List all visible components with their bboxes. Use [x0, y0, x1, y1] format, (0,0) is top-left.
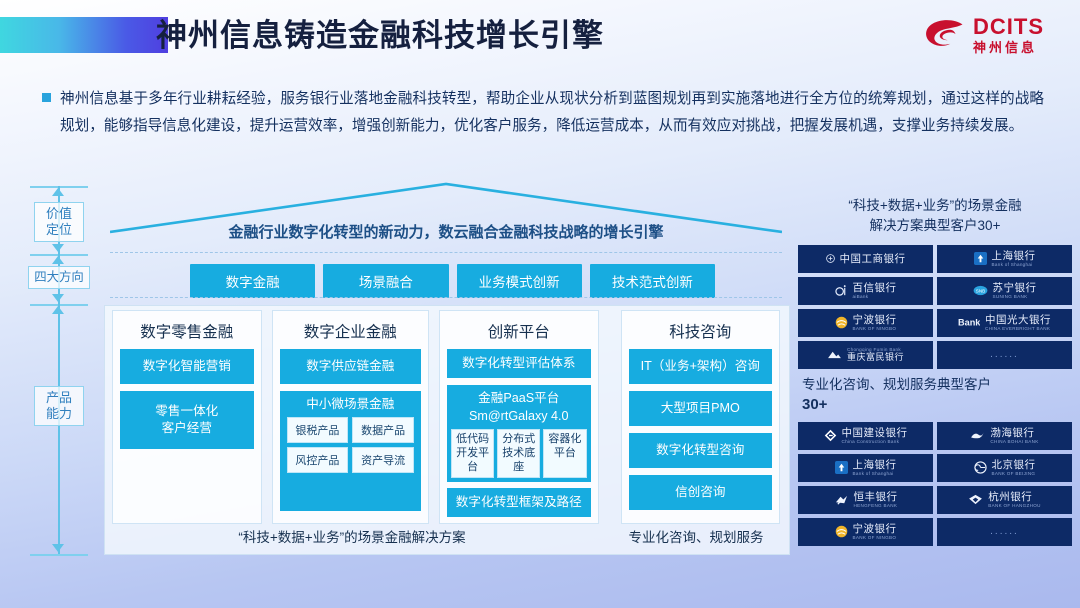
column-title: 创新平台: [447, 320, 590, 342]
bohai-bank-logo-icon: [970, 430, 985, 441]
ellipsis-icon: ......: [990, 349, 1019, 360]
axis-label-line2: 定位: [35, 222, 83, 238]
column-title: 数字企业金融: [280, 320, 422, 342]
paas-subitem-distributed-base[interactable]: 分布式技术底座: [497, 429, 540, 478]
axis-arrow-up-1: [52, 188, 64, 196]
bank-of-hangzhou-logo-icon: [968, 494, 983, 505]
customers-heading-line2: 解决方案典型客户30+: [800, 216, 1070, 236]
product-item-line2: 客户经营: [123, 420, 251, 437]
customer-name-cn: 宁波银行: [853, 523, 897, 535]
consulting-item-large-project-pmo[interactable]: 大型项目PMO: [629, 391, 772, 426]
axis-arrow-up-2: [52, 256, 64, 264]
direction-pill-tech-paradigm-innovation[interactable]: 技术范式创新: [590, 264, 715, 298]
customer-name-cn: 恒丰银行: [854, 491, 898, 503]
paas-subitem-container-platform[interactable]: 容器化平台: [543, 429, 586, 478]
customer-name-block: 北京银行 BANK OF BEIJING: [992, 459, 1036, 476]
column-title: 科技咨询: [629, 320, 772, 342]
axis-label-line1: 四大方向: [29, 270, 89, 285]
customer-name-cn: 北京银行: [992, 459, 1036, 471]
customer-name-cn: 中国光大银行: [985, 314, 1051, 326]
product-column-innovation-platform: 创新平台 数字化转型评估体系 金融PaaS平台 Sm@rtGalaxy 4.0 …: [439, 310, 598, 524]
icbc-logo-icon: [826, 254, 835, 263]
axis-label-product-capability: 产品 能力: [34, 386, 84, 426]
customer-name-en: HENGFENG BANK: [854, 503, 898, 508]
axis-arrow-down-3: [52, 544, 64, 552]
customer-name-en: BANK OF BEIJING: [992, 471, 1036, 476]
paas-title-line1: 金融PaaS平台: [451, 390, 586, 407]
customer-name-en: BANK OF HANGZHOU: [988, 503, 1041, 508]
customer-name-en: CHINA BOHAI BANK: [990, 439, 1038, 444]
left-axis: 价值 定位 四大方向 产品 能力: [30, 186, 102, 558]
product-item-digital-supply-chain-finance[interactable]: 数字供应链金融: [280, 349, 422, 384]
direction-pill-digital-finance[interactable]: 数字金融: [190, 264, 315, 298]
customer-name-block: 杭州银行 BANK OF HANGZHOU: [988, 491, 1041, 508]
consulting-item-xinchuang[interactable]: 信创咨询: [629, 475, 772, 510]
customer-name-cn: 百信银行: [853, 282, 897, 294]
axis-label-line1: 价值: [35, 206, 83, 222]
paas-subitem-lowcode[interactable]: 低代码开发平台: [451, 429, 494, 478]
dcits-swoosh-logo-icon: [924, 18, 966, 52]
roof-caption: 金融行业数字化转型的新动力，数云融合金融科技战略的增长引擎: [110, 221, 782, 242]
customer-cell-aibank[interactable]: 百信银行 aiBank: [798, 277, 933, 305]
axis-label-value-position: 价值 定位: [34, 202, 84, 242]
customer-name-cn: 渤海银行: [990, 427, 1034, 439]
customer-name-cn: 上海银行: [992, 250, 1036, 262]
customer-name-block: 恒丰银行 HENGFENG BANK: [854, 491, 898, 508]
customers-panel: “科技+数据+业务”的场景金融 解决方案典型客户30+ 中国工商银行 上海银行 …: [790, 190, 1080, 558]
aibank-logo-icon: [835, 285, 848, 297]
customer-cell-ccb[interactable]: 中国建设银行 China Construction Bank: [798, 422, 933, 450]
customer-name-cn: 上海银行: [853, 459, 897, 471]
customer-cell-bank-of-beijing[interactable]: 北京银行 BANK OF BEIJING: [937, 454, 1072, 482]
slide-root: 神州信息铸造金融科技增长引擎 DCITS 神州信息 神州信息基于多年行业耕耘经验…: [0, 0, 1080, 608]
customer-name-en: BANK OF NINGBO: [853, 535, 897, 540]
customer-name-en: Bank of Shanghai: [992, 262, 1033, 267]
everbright-bank-logo-icon: Bank: [958, 317, 980, 328]
brand-name-en: DCITS: [973, 16, 1044, 38]
customer-cell-fumin-bank[interactable]: Chongqing Fumin Bank 重庆富民银行: [798, 341, 933, 369]
customer-name-cn: 宁波银行: [853, 314, 897, 326]
suning-bank-logo-icon: SNB: [973, 285, 988, 296]
caption-consulting-planning-service: 专业化咨询、规划服务: [608, 526, 784, 546]
axis-label-line2: 能力: [35, 406, 83, 422]
product-columns: 数字零售金融 数字化智能营销 零售一体化 客户经营 数字企业金融 数字供应链金融…: [112, 310, 780, 524]
product-item-line1: 零售一体化: [123, 403, 251, 420]
square-bullet-icon: [42, 93, 51, 102]
customers-heading-line1: “科技+数据+业务”的场景金融: [800, 196, 1070, 216]
brand-logo-text: DCITS 神州信息: [973, 16, 1044, 54]
customer-logo-grid-scenario: 中国工商银行 上海银行 Bank of Shanghai 百信银行 aiBank: [790, 245, 1080, 369]
ccb-logo-icon: [824, 429, 837, 442]
consulting-item-digital-transformation[interactable]: 数字化转型咨询: [629, 433, 772, 468]
customer-cell-bank-of-shanghai-2[interactable]: 上海银行 Bank of Shanghai: [798, 454, 933, 482]
customer-name-en: Bank of Shanghai: [853, 471, 894, 476]
customers-heading-scenario: “科技+数据+业务”的场景金融 解决方案典型客户30+: [790, 190, 1080, 245]
product-group-financial-paas: 金融PaaS平台 Sm@rtGalaxy 4.0 低代码开发平台 分布式技术底座…: [447, 385, 590, 482]
paas-title-line2: Sm@rtGalaxy 4.0: [451, 408, 586, 425]
direction-pill-business-model-innovation[interactable]: 业务模式创新: [457, 264, 582, 298]
customers-heading-consulting: 专业化咨询、规划服务典型客户 30+: [790, 369, 1080, 422]
product-group-sme-scenario-finance: 中小微场景金融 银税产品 数据产品 风控产品 资产导流: [280, 391, 422, 511]
axis-arrow-down-1: [52, 244, 64, 252]
product-column-retail-finance: 数字零售金融 数字化智能营销 零售一体化 客户经营: [112, 310, 262, 524]
customer-cell-suning-bank[interactable]: SNB 苏宁银行 SUNING BANK: [937, 277, 1072, 305]
caption-scenario-finance-solution: “科技+数据+业务”的场景金融解决方案: [112, 526, 592, 546]
customer-name-block: 中国光大银行 CHINA EVERBRIGHT BANK: [985, 314, 1051, 331]
bank-of-ningbo-logo-icon: [835, 525, 848, 538]
axis-arrow-down-2: [52, 294, 64, 302]
customer-name-cn: 重庆富民银行: [847, 352, 904, 362]
product-column-enterprise-finance: 数字企业金融 数字供应链金融 中小微场景金融 银税产品 数据产品 风控产品 资产…: [272, 310, 430, 524]
product-subitem-tax-bank[interactable]: 银税产品: [287, 417, 349, 443]
customers-heading-line2: 30+: [802, 396, 827, 413]
bank-of-shanghai-logo-icon: [974, 252, 987, 265]
customer-name-block: 中国建设银行 China Construction Bank: [842, 427, 908, 444]
product-subitem-grid: 银税产品 数据产品 风控产品 资产导流: [284, 417, 418, 477]
customers-heading-line1: 专业化咨询、规划服务典型客户: [802, 375, 1070, 395]
customer-cell-everbright-bank[interactable]: Bank 中国光大银行 CHINA EVERBRIGHT BANK: [937, 309, 1072, 337]
customer-cell-bank-of-hangzhou[interactable]: 杭州银行 BANK OF HANGZHOU: [937, 486, 1072, 514]
customer-name-en: aiBank: [853, 294, 869, 299]
four-directions-row: 数字金融 场景融合 业务模式创新 技术范式创新: [190, 264, 715, 298]
brand-name-cn: 神州信息: [973, 41, 1044, 54]
customer-name-en: China Construction Bank: [842, 439, 900, 444]
customer-name-cn: 中国工商银行: [840, 251, 906, 266]
product-subitem-asset-routing[interactable]: 资产导流: [352, 447, 414, 473]
page-title: 神州信息铸造金融科技增长引擎: [156, 10, 604, 55]
customer-name-block: 宁波银行 BANK OF NINGBO: [853, 523, 897, 540]
customer-name-cn: 苏宁银行: [993, 282, 1037, 294]
customer-logo-grid-consulting: 中国建设银行 China Construction Bank 渤海银行 CHIN…: [790, 422, 1080, 546]
product-column-tech-consulting: 科技咨询 IT（业务+架构）咨询 大型项目PMO 数字化转型咨询 信创咨询: [621, 310, 780, 524]
customer-name-block: 百信银行 aiBank: [853, 282, 897, 299]
axis-arrow-up-3: [52, 306, 64, 314]
customer-name-block: 上海银行 Bank of Shanghai: [992, 250, 1036, 267]
customer-cell-bank-of-ningbo-2[interactable]: 宁波银行 BANK OF NINGBO: [798, 518, 933, 546]
customer-name-block: 宁波银行 BANK OF NINGBO: [853, 314, 897, 331]
axis-label-line1: 产品: [35, 390, 83, 406]
product-item-smart-marketing[interactable]: 数字化智能营销: [120, 349, 254, 384]
svg-text:SNB: SNB: [975, 288, 984, 293]
bank-of-beijing-logo-icon: [974, 461, 987, 474]
customer-cell-bohai-bank[interactable]: 渤海银行 CHINA BOHAI BANK: [937, 422, 1072, 450]
customer-cell-hengfeng-bank[interactable]: 恒丰银行 HENGFENG BANK: [798, 486, 933, 514]
bank-of-shanghai-logo-icon: [835, 461, 848, 474]
customer-name-en: CHINA EVERBRIGHT BANK: [985, 326, 1050, 331]
customer-cell-more-1: ......: [937, 341, 1072, 369]
axis-rule-bottom: [30, 554, 88, 556]
customer-name-block: 苏宁银行 SUNING BANK: [993, 282, 1037, 299]
customer-name-en: BANK OF NINGBO: [853, 326, 897, 331]
product-item-transformation-framework[interactable]: 数字化转型框架及路径: [447, 488, 590, 517]
customer-cell-bank-of-ningbo[interactable]: 宁波银行 BANK OF NINGBO: [798, 309, 933, 337]
product-subitem-data-product[interactable]: 数据产品: [352, 417, 414, 443]
customer-name-cn: 中国建设银行: [842, 427, 908, 439]
product-item-retail-integrated-customer-ops[interactable]: 零售一体化 客户经营: [120, 391, 254, 449]
brand-logo: DCITS 神州信息: [924, 16, 1044, 54]
ellipsis-icon: ......: [990, 526, 1019, 537]
paas-subitem-row: 低代码开发平台 分布式技术底座 容器化平台: [451, 429, 586, 478]
intro-paragraph: 神州信息基于多年行业耕耘经验，服务银行业落地金融科技转型，帮助企业从现状分析到蓝…: [42, 86, 1044, 140]
svg-text:Bank: Bank: [958, 318, 980, 328]
fumin-bank-logo-icon: [827, 349, 842, 360]
customer-cell-icbc[interactable]: 中国工商银行: [798, 245, 933, 273]
divider-dashed-1: [110, 252, 782, 253]
intro-text: 神州信息基于多年行业耕耘经验，服务银行业落地金融科技转型，帮助企业从现状分析到蓝…: [60, 86, 1044, 140]
customer-cell-more-2: ......: [937, 518, 1072, 546]
axis-line-3: [58, 304, 60, 554]
consulting-item-it-consulting[interactable]: IT（业务+架构）咨询: [629, 349, 772, 384]
bank-of-ningbo-logo-icon: [835, 316, 848, 329]
customer-name-block: 渤海银行 CHINA BOHAI BANK: [990, 427, 1038, 444]
header-accent-bar: [0, 17, 168, 53]
customer-cell-bank-of-shanghai[interactable]: 上海银行 Bank of Shanghai: [937, 245, 1072, 273]
product-group-title: 中小微场景金融: [284, 396, 418, 413]
customer-name-block: Chongqing Fumin Bank 重庆富民银行: [847, 347, 904, 363]
customer-name-cn: 杭州银行: [988, 491, 1032, 503]
product-subitem-risk-control[interactable]: 风控产品: [287, 447, 349, 473]
slide-header: 神州信息铸造金融科技增长引擎 DCITS 神州信息: [0, 0, 1080, 72]
customer-name-block: 上海银行 Bank of Shanghai: [853, 459, 897, 476]
column-title: 数字零售金融: [120, 320, 254, 342]
hengfeng-bank-logo-icon: [834, 494, 849, 506]
axis-label-four-directions: 四大方向: [28, 266, 90, 289]
divider-dashed-2: [110, 297, 782, 298]
direction-pill-scenario-fusion[interactable]: 场景融合: [323, 264, 448, 298]
product-item-transformation-assessment[interactable]: 数字化转型评估体系: [447, 349, 590, 378]
customer-name-en: SUNING BANK: [993, 294, 1028, 299]
